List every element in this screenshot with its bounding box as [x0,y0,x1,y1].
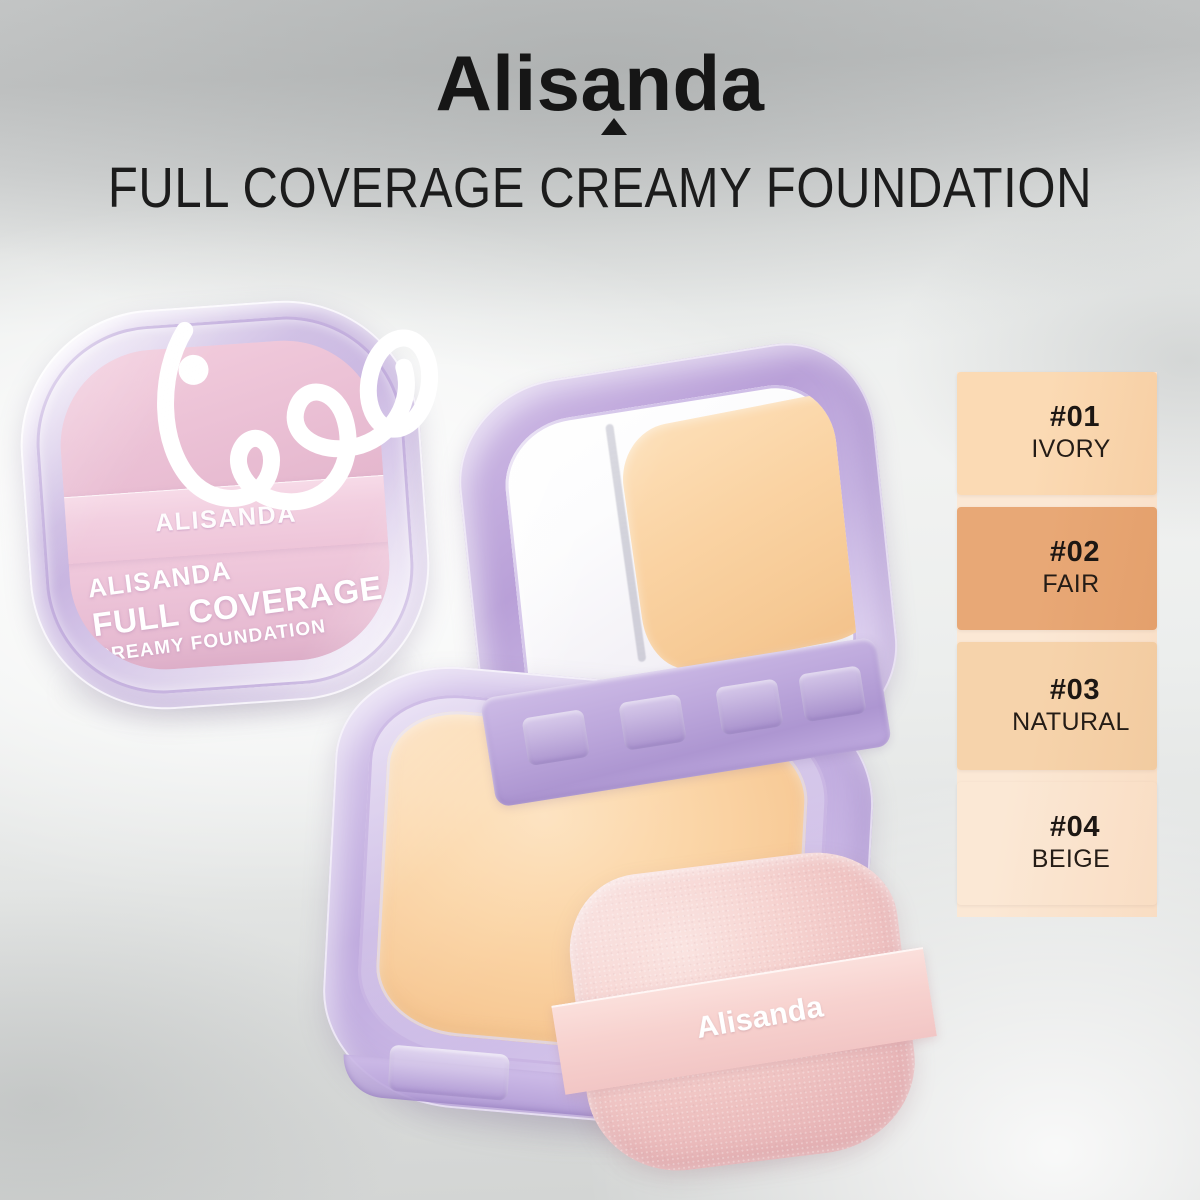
shade-swatch-03[interactable]: #03 NATURAL [957,642,1157,770]
shade-swatch-02[interactable]: #02 FAIR [957,507,1157,630]
mirror-reflection-cream [616,386,862,677]
compact-hinge-notch [521,709,590,766]
compact-hinge-notch [715,678,784,735]
brand-title: Alisanda [435,44,764,122]
shade-name: BEIGE [1032,845,1110,875]
powder-puff: Alisanda [561,843,925,1181]
shade-name: IVORY [1031,435,1110,465]
compact-hinge-notch [618,694,687,751]
brand-wordmark: Alisanda [435,44,764,122]
shade-name: NATURAL [1012,708,1130,738]
shade-code: #01 [1050,402,1100,433]
header: Alisanda FULL COVERAGE CREAMY FOUNDATION [0,0,1200,212]
shade-code: #03 [1050,675,1100,706]
shade-swatch-list: #01 IVORY #02 FAIR #03 NATURAL #04 BEIGE [957,372,1157,917]
compact-hinge-notch [798,665,867,722]
shade-code: #04 [1050,812,1100,843]
shade-code: #02 [1050,537,1100,568]
product-image-stage: Alisanda FULL COVERAGE CREAMY FOUNDATION… [0,0,1200,1200]
brand-accent-triangle-icon [601,118,627,135]
shade-swatch-01[interactable]: #01 IVORY [957,372,1157,495]
shade-swatch-04[interactable]: #04 BEIGE [957,782,1157,905]
shade-name: FAIR [1042,570,1099,600]
product-tagline: FULL COVERAGE CREAMY FOUNDATION [0,156,1200,221]
powder-puff-brand-text: Alisanda [694,990,826,1046]
